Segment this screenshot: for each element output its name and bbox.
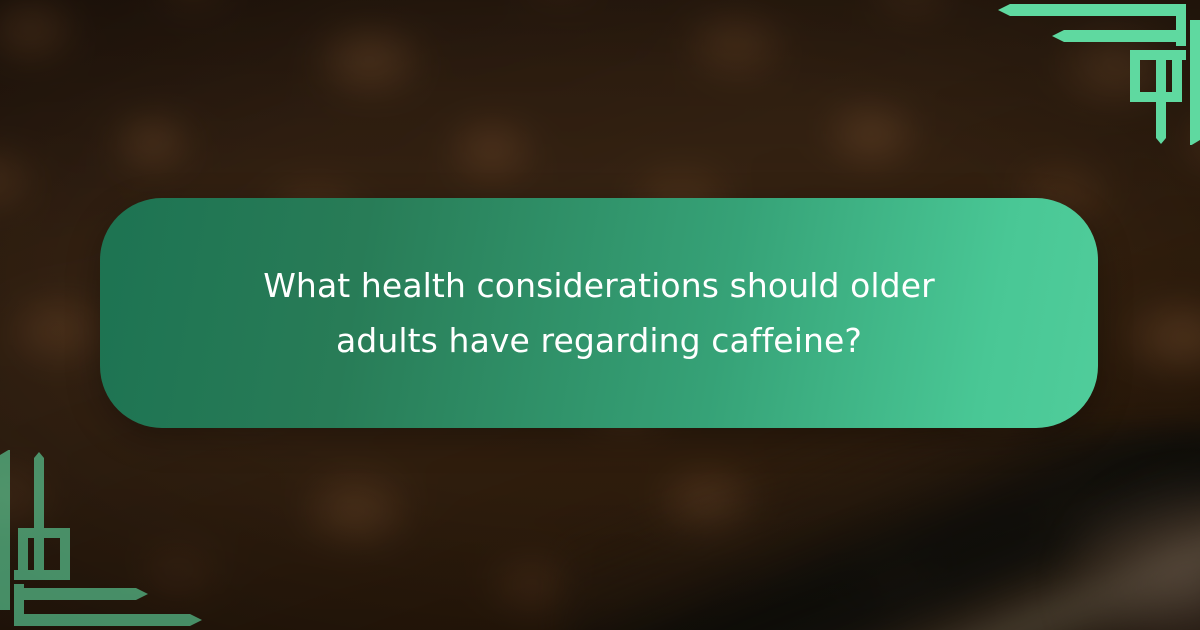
question-text: What health considerations should older … [143, 258, 1055, 368]
question-card: What health considerations should older … [100, 198, 1098, 428]
question-card-graphic: What health considerations should older … [0, 0, 1200, 630]
